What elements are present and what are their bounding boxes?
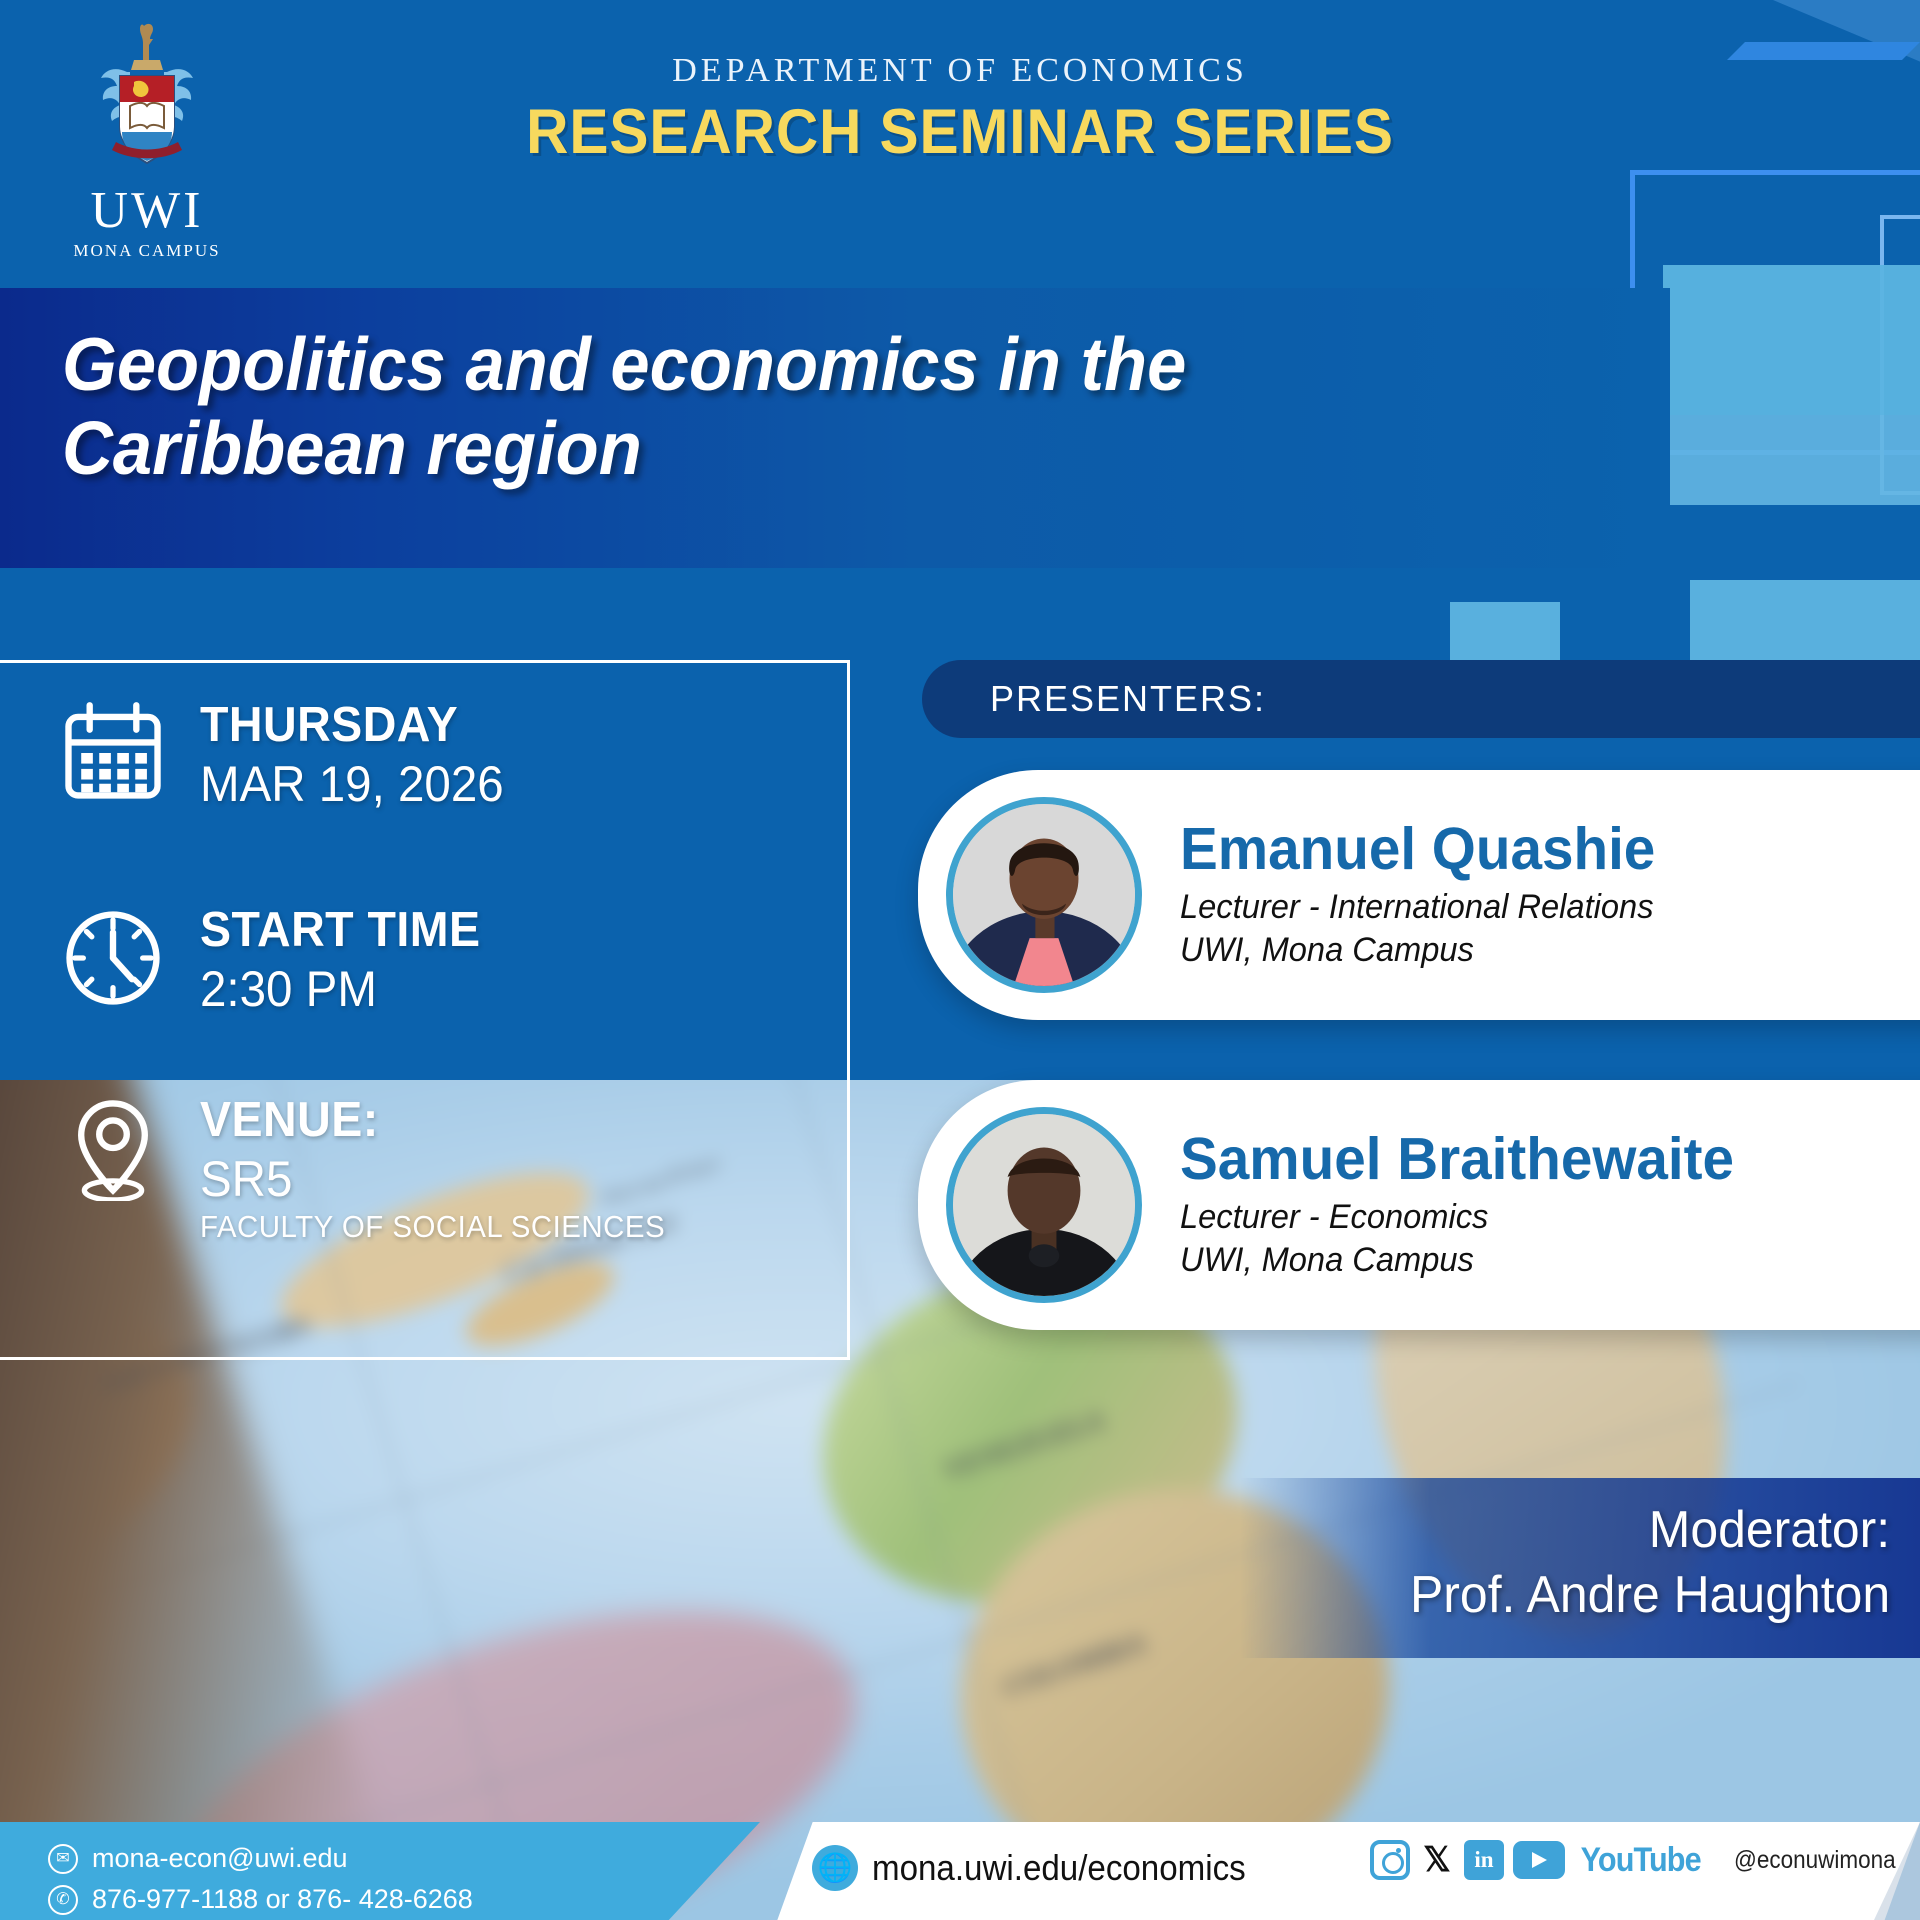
venue-value: SR5 — [200, 1151, 665, 1209]
footer-website: mona.uwi.edu/economics — [872, 1847, 1246, 1889]
linkedin-icon[interactable]: in — [1464, 1840, 1504, 1880]
presenter-card: Emanuel Quashie Lecturer - International… — [918, 770, 1920, 1020]
date-value: MAR 19, 2026 — [200, 756, 504, 814]
presenters-tab: PRESENTERS: — [922, 660, 1920, 738]
footer-email-row[interactable]: ✉ mona-econ@uwi.edu — [48, 1843, 348, 1874]
detail-row-date: THURSDAY MAR 19, 2026 — [60, 700, 520, 813]
presenter-role: Lecturer - Economics — [1180, 1196, 1734, 1239]
calendar-icon — [60, 700, 166, 806]
decorative-block-1 — [1663, 265, 1920, 415]
presenter-card: Samuel Braithewaite Lecturer - Economics… — [918, 1080, 1920, 1330]
moderator-block: Moderator: Prof. Andre Haughton — [1410, 1498, 1890, 1628]
venue-label: VENUE: — [200, 1095, 665, 1147]
detail-row-time: START TIME 2:30 PM — [60, 905, 495, 1018]
presenter-name: Emanuel Quashie — [1180, 819, 1655, 879]
decorative-block-4 — [1690, 580, 1920, 660]
presenter-role: Lecturer - International Relations — [1180, 886, 1655, 929]
envelope-icon: ✉ — [48, 1844, 78, 1874]
presenter-photo-quashie — [946, 797, 1142, 993]
footer-phone: 876-977-1188 or 876- 428-6268 — [92, 1884, 473, 1915]
date-label: THURSDAY — [200, 700, 504, 752]
youtube-icon[interactable] — [1513, 1841, 1565, 1879]
time-value: 2:30 PM — [200, 961, 481, 1019]
social-handle: @econuwimona — [1734, 1846, 1896, 1875]
youtube-label: YouTube — [1581, 1841, 1701, 1880]
series-title: RESEARCH SEMINAR SERIES — [67, 96, 1853, 168]
decorative-block-2 — [1663, 415, 1920, 505]
footer-social-row[interactable]: 𝕏 in YouTube @econuwimona — [1370, 1840, 1914, 1880]
department-label: DEPARTMENT OF ECONOMICS — [0, 52, 1920, 90]
page-title: Geopolitics and economics in the Caribbe… — [62, 322, 1472, 490]
uwi-wordmark: UWI — [72, 185, 222, 237]
time-label: START TIME — [200, 905, 481, 957]
seminar-poster: Caribbean Sea CUBA VENEZUELA COLOMBIA Gu… — [0, 0, 1920, 1920]
instagram-icon[interactable] — [1370, 1840, 1410, 1880]
presenter-name: Samuel Braithewaite — [1180, 1129, 1734, 1189]
footer-email: mona-econ@uwi.edu — [92, 1843, 348, 1874]
map-pin-icon — [60, 1095, 166, 1201]
presenter-affiliation: UWI, Mona Campus — [1180, 1239, 1734, 1282]
detail-row-venue: VENUE: SR5 FACULTY OF SOCIAL SCIENCES — [60, 1095, 690, 1246]
globe-icon: 🌐 — [812, 1845, 858, 1891]
presenters-label: PRESENTERS: — [922, 678, 1266, 720]
moderator-label: Moderator: — [1410, 1498, 1890, 1563]
presenter-affiliation: UWI, Mona Campus — [1180, 929, 1655, 972]
footer-phone-row[interactable]: ✆ 876-977-1188 or 876- 428-6268 — [48, 1884, 473, 1915]
footer-website-row[interactable]: 🌐 mona.uwi.edu/economics — [812, 1845, 1278, 1891]
x-twitter-icon[interactable]: 𝕏 — [1419, 1840, 1455, 1880]
clock-icon — [60, 905, 166, 1011]
venue-faculty: FACULTY OF SOCIAL SCIENCES — [200, 1208, 665, 1245]
moderator-name: Prof. Andre Haughton — [1410, 1563, 1890, 1628]
campus-label: MONA CAMPUS — [72, 241, 222, 261]
decorative-block-3 — [1450, 602, 1560, 660]
phone-icon: ✆ — [48, 1885, 78, 1915]
presenter-photo-braithewaite — [946, 1107, 1142, 1303]
